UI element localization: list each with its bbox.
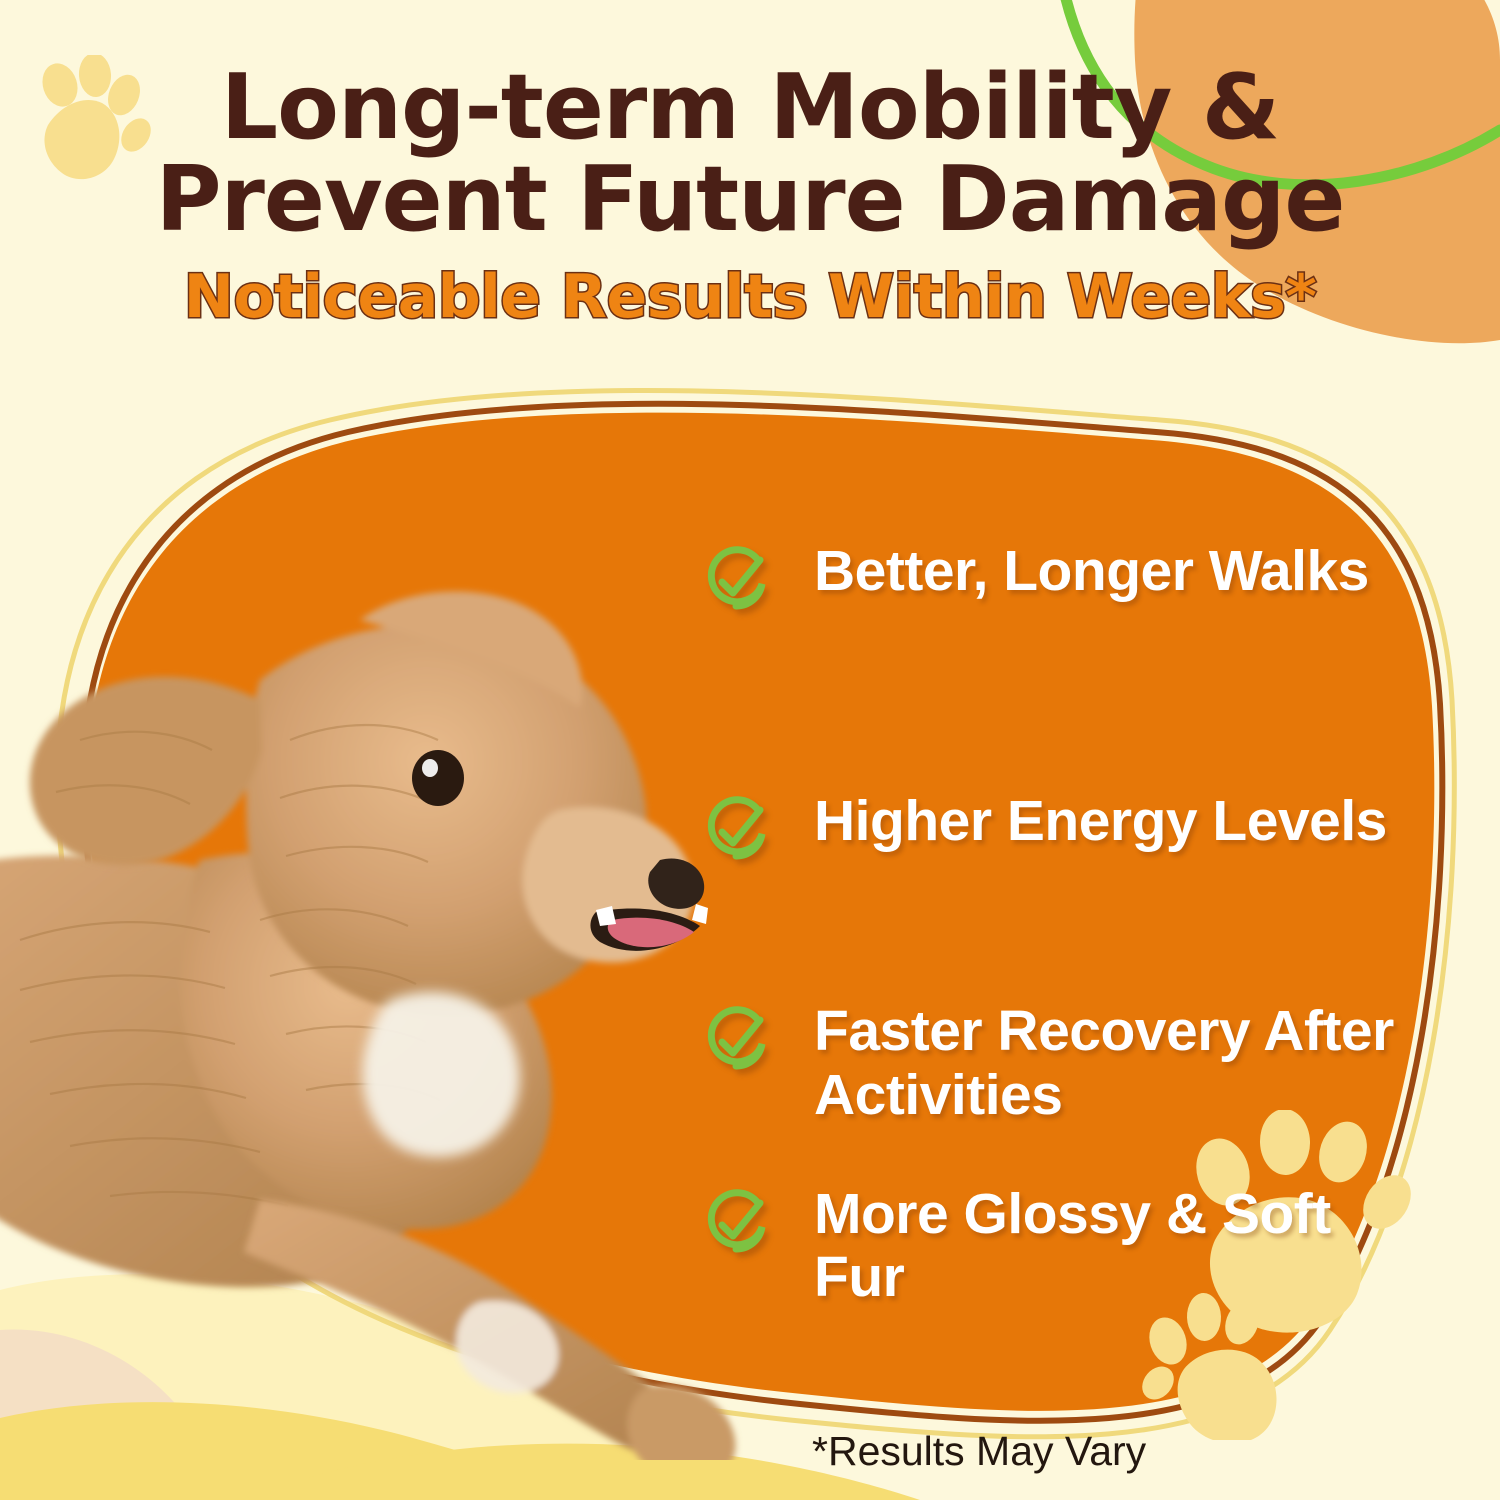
benefit-label: Higher Energy Levels [814,790,1387,854]
disclaimer-text: *Results May Vary [812,1428,1146,1475]
check-circle-icon [700,1004,772,1076]
check-circle-icon [700,544,772,616]
promo-graphic: Long-term Mobility & Prevent Future Dama… [0,0,1500,1500]
list-item: Better, Longer Walks [700,540,1420,630]
list-item: More Glossy & Soft Fur [700,1183,1420,1311]
benefit-label: Faster Recovery After Activities [814,1000,1420,1128]
headline-line-2: Prevent Future Damage [60,154,1440,246]
check-circle-icon [700,794,772,866]
page-title: Long-term Mobility & Prevent Future Dama… [0,62,1500,246]
subheadline: Noticeable Results Within Weeks* [0,262,1500,332]
headline-block: Long-term Mobility & Prevent Future Dama… [0,62,1500,332]
check-circle-icon [700,1187,772,1259]
headline-line-1: Long-term Mobility & [221,55,1279,160]
benefits-list: Better, Longer Walks Higher Energy Level… [700,540,1420,1310]
list-item: Faster Recovery After Activities [700,1000,1420,1128]
jumping-cockapoo-dog-photo [0,560,780,1460]
benefit-label: Better, Longer Walks [814,540,1369,604]
benefit-label: More Glossy & Soft Fur [814,1183,1420,1311]
list-item: Higher Energy Levels [700,790,1420,880]
